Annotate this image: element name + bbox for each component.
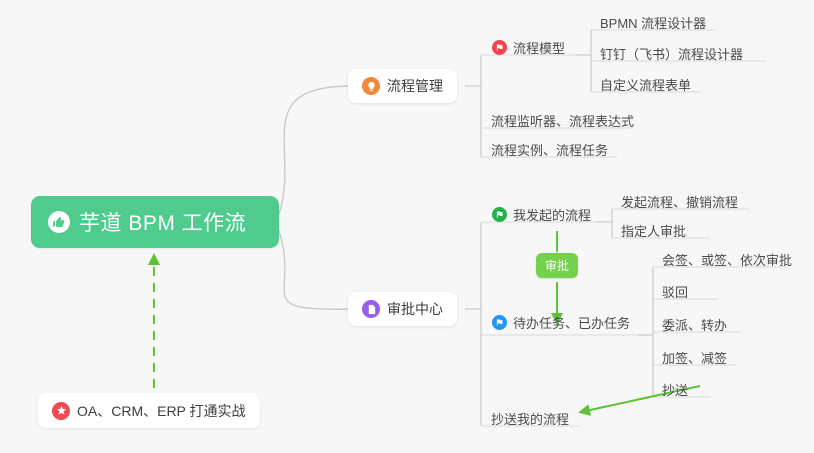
node-countersign-label: 会签、或签、依次审批 (662, 250, 792, 269)
branch-approval-center-label: 审批中心 (387, 299, 443, 319)
node-reject-label: 驳回 (662, 282, 688, 301)
approval-badge-label: 审批 (545, 259, 569, 273)
node-process-instance-task[interactable]: 流程实例、流程任务 (491, 140, 608, 162)
mindmap-canvas: 芋道 BPM 工作流 流程管理 流程模型 BPMN 流程设计器 钉钉（飞书）流程… (0, 0, 814, 453)
flag-icon (492, 315, 507, 330)
branch-approval-center[interactable]: 审批中心 (348, 292, 457, 326)
node-process-listener-expression-label: 流程监听器、流程表达式 (491, 111, 634, 130)
node-add-remove-sign[interactable]: 加签、减签 (662, 348, 727, 370)
link-root-to-process-management (279, 86, 348, 214)
branch-process-management[interactable]: 流程管理 (348, 69, 457, 103)
node-delegate-transfer[interactable]: 委派、转办 (662, 315, 727, 337)
lightbulb-icon (362, 77, 380, 95)
node-cc-to-me-process-label: 抄送我的流程 (491, 409, 569, 428)
node-bpmn-designer[interactable]: BPMN 流程设计器 (600, 13, 706, 35)
node-delegate-transfer-label: 委派、转办 (662, 315, 727, 334)
node-start-cancel-process-label: 发起流程、撤销流程 (621, 192, 738, 211)
node-process-instance-task-label: 流程实例、流程任务 (491, 140, 608, 159)
approval-badge: 审批 (536, 253, 578, 278)
node-add-remove-sign-label: 加签、减签 (662, 348, 727, 367)
node-my-initiated-process-label: 我发起的流程 (513, 205, 591, 224)
star-icon (52, 402, 70, 420)
node-dingtalk-designer[interactable]: 钉钉（飞书）流程设计器 (600, 44, 743, 66)
node-process-listener-expression[interactable]: 流程监听器、流程表达式 (491, 111, 634, 133)
bottom-node-integration[interactable]: OA、CRM、ERP 打通实战 (38, 393, 260, 428)
node-cc-to-me-process[interactable]: 抄送我的流程 (491, 409, 569, 431)
root-label: 芋道 BPM 工作流 (79, 207, 246, 237)
root-node[interactable]: 芋道 BPM 工作流 (31, 196, 279, 248)
node-process-model-label: 流程模型 (513, 38, 565, 57)
node-todo-done-tasks[interactable]: 待办任务、已办任务 (492, 313, 630, 335)
document-icon (362, 300, 380, 318)
node-assigned-approver-label: 指定人审批 (621, 221, 686, 240)
node-todo-done-tasks-label: 待办任务、已办任务 (513, 313, 630, 332)
flag-icon (492, 40, 507, 55)
node-dingtalk-designer-label: 钉钉（飞书）流程设计器 (600, 44, 743, 63)
node-custom-process-form[interactable]: 自定义流程表单 (600, 75, 691, 97)
node-countersign[interactable]: 会签、或签、依次审批 (662, 250, 792, 272)
branch-process-management-label: 流程管理 (387, 76, 443, 96)
node-custom-process-form-label: 自定义流程表单 (600, 75, 691, 94)
node-process-model[interactable]: 流程模型 (492, 38, 565, 60)
thumbs-up-icon (48, 211, 70, 233)
bottom-node-integration-label: OA、CRM、ERP 打通实战 (77, 401, 246, 421)
link-root-to-approval-center (279, 231, 348, 309)
node-bpmn-designer-label: BPMN 流程设计器 (600, 13, 706, 32)
node-my-initiated-process[interactable]: 我发起的流程 (492, 205, 591, 227)
node-reject[interactable]: 驳回 (662, 282, 688, 304)
node-cc[interactable]: 抄送 (662, 380, 688, 402)
node-start-cancel-process[interactable]: 发起流程、撤销流程 (621, 192, 738, 214)
node-assigned-approver[interactable]: 指定人审批 (621, 221, 686, 243)
flag-icon (492, 207, 507, 222)
node-cc-label: 抄送 (662, 380, 688, 399)
